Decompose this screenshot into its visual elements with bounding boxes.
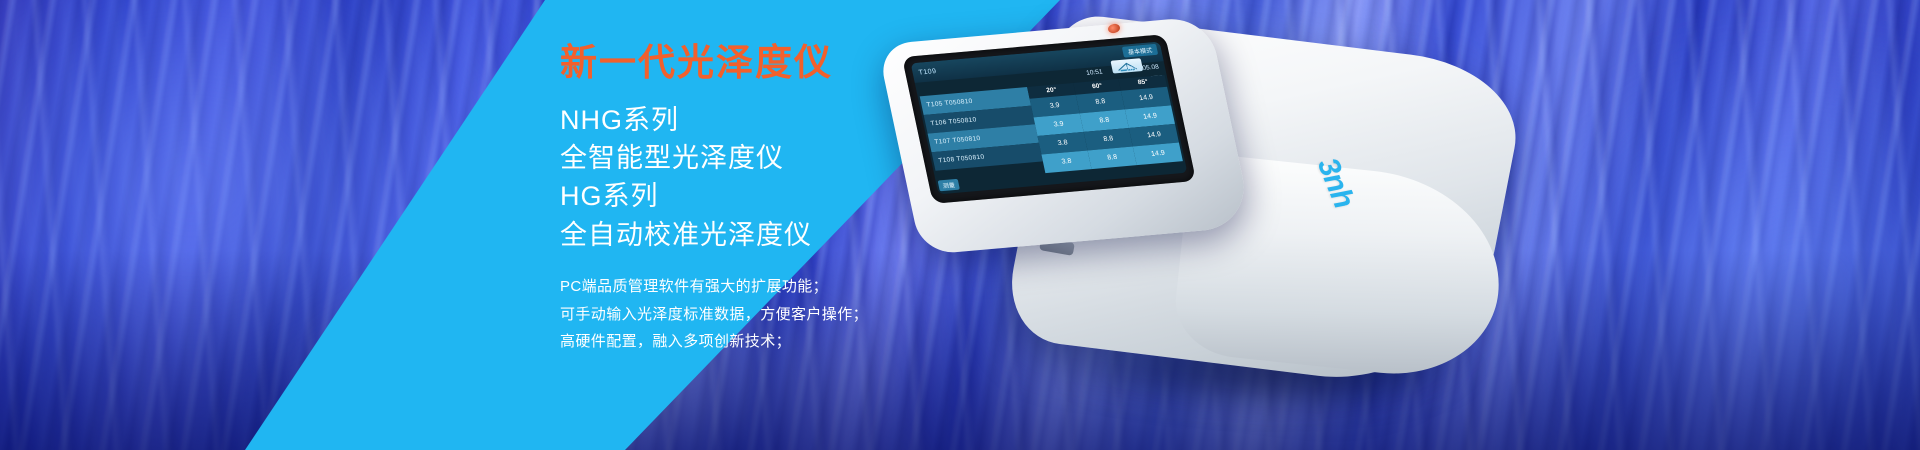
screen-measure-button[interactable]: 测量 (938, 179, 960, 192)
screen-value-columns: 20° 3.9 3.9 3.8 3.8 60° 8.8 8.8 8.8 8.8 (1027, 75, 1185, 183)
table-cell: 14.9 (1133, 143, 1183, 166)
screen-title: T109 (918, 68, 937, 76)
screen-date: 2019.05.08 (1125, 64, 1159, 74)
screen-clock: 10:51 (1086, 69, 1104, 77)
gloss-meter-device: T109 基本模式 10:51 2019.05.08 T105 T050810 … (880, 18, 1520, 418)
table-cell: 3.8 (1042, 150, 1092, 173)
screen-measurement-table: T105 T050810 T106 T050810 T107 T050810 T… (920, 75, 1185, 192)
product-banner: 新一代光泽度仪 NHG系列 全智能型光泽度仪 HG系列 全自动校准光泽度仪 PC… (0, 0, 1920, 450)
table-cell: 8.8 (1088, 146, 1138, 169)
device-screen[interactable]: T109 基本模式 10:51 2019.05.08 T105 T050810 … (911, 42, 1188, 195)
screen-sample-name-column: T105 T050810 T106 T050810 T107 T050810 T… (920, 87, 1048, 192)
